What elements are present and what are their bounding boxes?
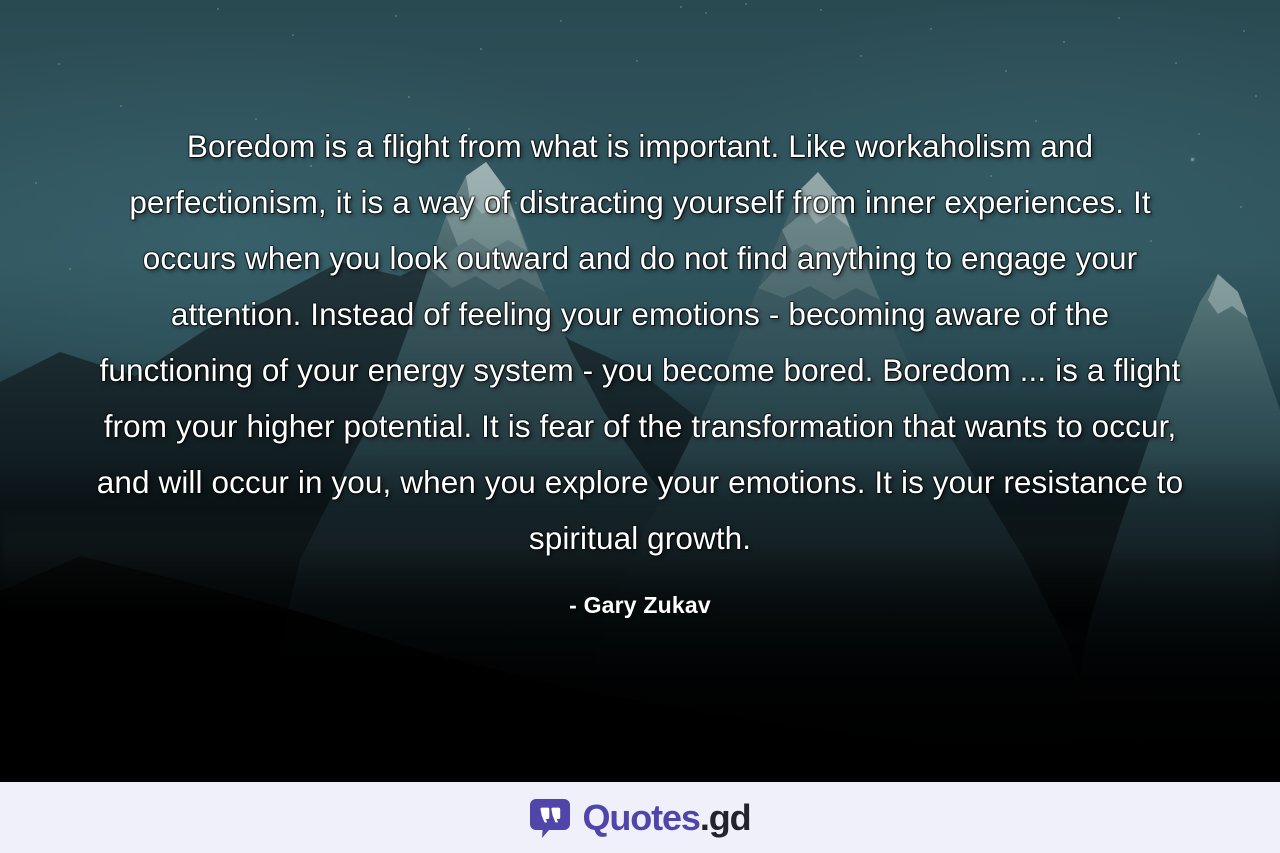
brand-name: Quotes — [582, 800, 699, 836]
quote-content: Boredom is a flight from what is importa… — [0, 0, 1280, 782]
quote-card: Boredom is a flight from what is importa… — [0, 0, 1280, 782]
brand-tld: .gd — [700, 800, 751, 836]
quote-author: - Gary Zukav — [569, 592, 711, 619]
quote-bubble-icon — [529, 797, 571, 839]
quote-image-page: Boredom is a flight from what is importa… — [0, 0, 1280, 853]
brand-wordmark: Quotes.gd — [582, 800, 750, 836]
quote-text: Boredom is a flight from what is importa… — [90, 118, 1190, 566]
brand-logo-link[interactable]: Quotes.gd — [529, 797, 750, 839]
footer-bar: Quotes.gd — [0, 782, 1280, 853]
